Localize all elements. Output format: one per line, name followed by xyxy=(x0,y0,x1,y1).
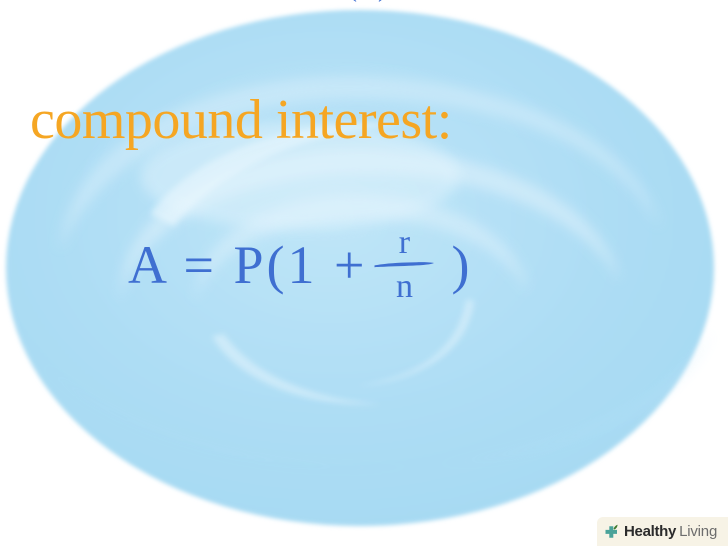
slide-canvas: compound interest: A = P(1 + r n ) (nt) … xyxy=(0,0,728,546)
slide-title: compound interest: xyxy=(30,92,630,148)
compound-interest-formula: A = P(1 + r n ) xyxy=(128,228,470,302)
formula-exponent: (nt) xyxy=(348,0,387,3)
formula-close-paren: ) xyxy=(451,238,470,292)
formula-left-side: A = P(1 + xyxy=(128,238,367,292)
logo-wordmark: HealthyLiving xyxy=(624,524,717,539)
green-cross-leaf-icon xyxy=(602,522,622,542)
logo-word-healthy: Healthy xyxy=(624,523,676,540)
healthy-living-logo: HealthyLiving xyxy=(597,517,728,546)
fraction-numerator: r xyxy=(399,228,410,258)
fraction-denominator: n xyxy=(396,272,413,302)
logo-word-living: Living xyxy=(679,523,717,540)
formula-fraction: r n xyxy=(373,228,435,302)
